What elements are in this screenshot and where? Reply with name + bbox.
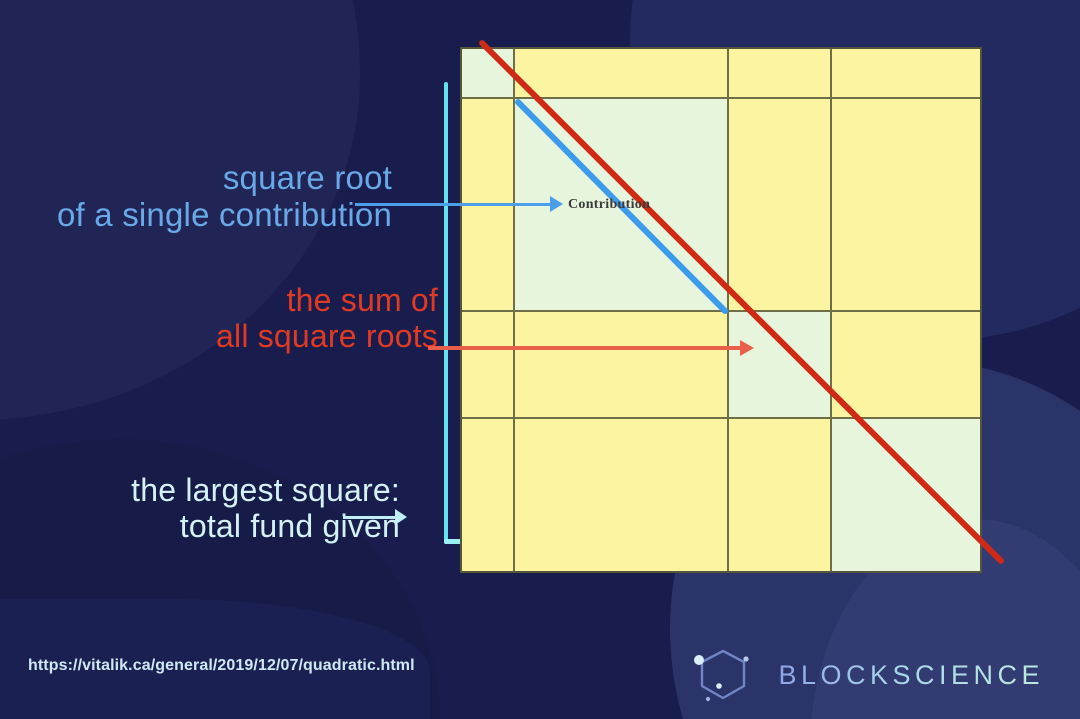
red-arrow-icon: [428, 340, 754, 356]
quadratic-funding-chart: [460, 47, 982, 573]
contribution-label: Contribution: [568, 197, 650, 213]
white-arrow-head: [395, 509, 407, 525]
annotation-sum-of-roots-line1: the sum of: [287, 282, 438, 318]
total-fund-bracket-vertical: [444, 82, 448, 544]
blue-arrow-head: [550, 196, 563, 212]
red-arrow-shaft: [428, 346, 740, 350]
annotation-largest-square: the largest square: total fund given: [0, 473, 400, 545]
annotation-sum-of-roots: the sum of all square roots: [18, 283, 438, 355]
slide-canvas: Contribution square root of a single con…: [0, 0, 1080, 719]
white-arrow-shaft: [343, 516, 395, 519]
annotation-largest-square-line1: the largest square:: [131, 472, 400, 508]
source-url[interactable]: https://vitalik.ca/general/2019/12/07/qu…: [28, 657, 415, 675]
hexagon-ring-icon: [690, 645, 756, 705]
annotation-sum-of-roots-line2: all square roots: [18, 319, 438, 355]
blue-arrow-shaft: [355, 203, 550, 206]
annotation-sqrt-single-line2: of a single contribution: [0, 197, 392, 234]
red-arrow-head: [740, 340, 754, 356]
annotation-sqrt-single-line1: square root: [223, 159, 392, 196]
blue-arrow-icon: [355, 196, 563, 212]
blockscience-wordmark: BLOCKSCIENCE: [778, 660, 1044, 691]
annotation-largest-square-line2: total fund given: [0, 509, 400, 545]
white-arrow-icon: [343, 509, 407, 525]
annotation-sqrt-single: square root of a single contribution: [0, 160, 392, 234]
blockscience-logo: BLOCKSCIENCE: [690, 645, 1044, 705]
